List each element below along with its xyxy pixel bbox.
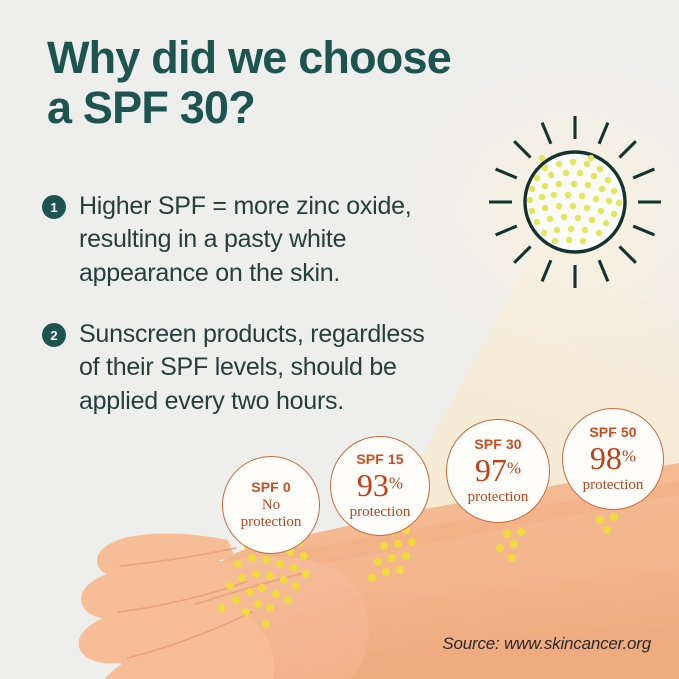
- spf-circle-spf15: SPF 15 93% protection: [330, 436, 430, 536]
- spf-sublabel: protection: [350, 504, 411, 521]
- infographic-canvas: Why did we choose a SPF 30? 1 Higher SPF…: [0, 0, 679, 679]
- list-item: 1 Higher SPF = more zinc oxide, resultin…: [42, 190, 512, 290]
- spf-percent: 98%: [590, 442, 636, 474]
- list-number-badge: 2: [42, 323, 66, 347]
- spf-sublabel: No protection: [241, 497, 302, 531]
- percent-symbol: %: [389, 473, 403, 492]
- spf-percent: 93%: [357, 469, 403, 501]
- spf-circle-spf30: SPF 30 97% protection: [446, 419, 550, 523]
- page-title: Why did we choose a SPF 30?: [47, 33, 607, 134]
- spf-percent: 97%: [475, 454, 521, 486]
- percent-symbol: %: [507, 458, 521, 477]
- list-item-text: Sunscreen products, regardless of their …: [79, 318, 424, 418]
- spf-sublabel: protection: [583, 477, 644, 494]
- percent-symbol: %: [622, 446, 636, 465]
- list-number-badge: 1: [42, 195, 66, 219]
- list-item-text: Higher SPF = more zinc oxide, resulting …: [79, 190, 411, 290]
- spf-circle-spf0: SPF 0 No protection: [222, 456, 320, 554]
- list-item: 2 Sunscreen products, regardless of thei…: [42, 318, 532, 418]
- source-attribution: Source: www.skincancer.org: [442, 634, 651, 654]
- spf-label: SPF 30: [474, 437, 521, 451]
- spf-label: SPF 0: [251, 480, 290, 494]
- spf-sublabel: protection: [468, 489, 529, 506]
- spf-circle-spf50: SPF 50 98% protection: [562, 408, 664, 510]
- spf-label: SPF 15: [356, 452, 403, 466]
- spf-label: SPF 50: [589, 425, 636, 439]
